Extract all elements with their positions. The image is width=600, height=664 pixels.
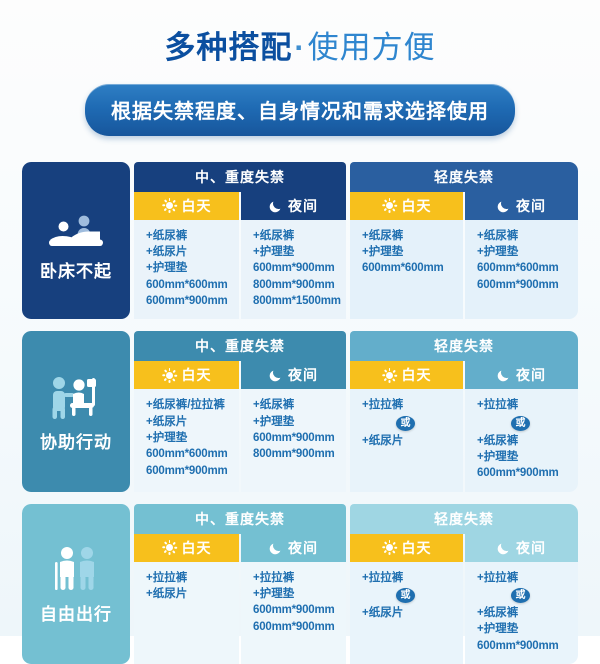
sun-icon [162, 368, 177, 383]
cell-line: +拉拉裤 [146, 570, 239, 586]
subtitle-pill-text: 根据失禁程度、自身情况和需求选择使用 [85, 84, 515, 136]
page-title-light: 使用方便 [308, 30, 436, 65]
subheader-day-label: 白天 [402, 196, 432, 216]
sun-icon [382, 540, 397, 555]
title-separator-dot: · [292, 30, 307, 65]
subheader-night[interactable]: 夜间 [465, 534, 578, 562]
page-title-strong: 多种搭配 [164, 30, 292, 65]
time-subheaders: 白天夜间 [134, 361, 346, 389]
group-mild: 轻度失禁白天夜间+纸尿裤+护理垫600mm*600mm+纸尿裤+护理垫600mm… [350, 162, 578, 320]
cell-line: +纸尿裤 [253, 228, 346, 244]
subtitle-banner: 根据失禁程度、自身情况和需求选择使用 [0, 84, 600, 136]
cell-line: +护理垫 [477, 621, 578, 637]
or-badge: 或 [511, 588, 530, 603]
group-cells: +拉拉裤+纸尿片+拉拉裤+护理垫600mm*900mm600mm*900mm [134, 562, 346, 664]
moon-icon [269, 368, 283, 382]
cell-mild-day: +纸尿裤+护理垫600mm*600mm [350, 220, 463, 320]
group-header: 轻度失禁 [350, 331, 578, 361]
category-label: 卧床不起 [40, 257, 112, 282]
group-cells: +拉拉裤或+纸尿片+拉拉裤或+纸尿裤+护理垫600mm*900mm [350, 389, 578, 491]
cell-line: 600mm*900mm [253, 260, 346, 276]
subheader-day-label: 白天 [182, 365, 212, 385]
cell-line: +护理垫 [477, 244, 578, 260]
cell-severe-day: +纸尿裤+纸尿片+护理垫600mm*600mm600mm*900mm [134, 220, 239, 320]
category-cell-2: 协助行动 [22, 331, 130, 491]
cell-line: +纸尿片 [362, 605, 463, 621]
cell-line: +纸尿裤 [253, 397, 346, 413]
time-subheaders: 白天夜间 [134, 534, 346, 562]
cell-line: 600mm*900mm [146, 463, 239, 479]
table-row: 卧床不起中、重度失禁白天夜间+纸尿裤+纸尿片+护理垫600mm*600mm600… [22, 162, 578, 320]
cell-line: 800mm*900mm [253, 277, 346, 293]
category-cell-1: 卧床不起 [22, 162, 130, 320]
or-badge: 或 [511, 416, 530, 431]
cell-line: +纸尿片 [146, 586, 239, 602]
cell-line: +纸尿裤 [477, 433, 578, 449]
sun-icon [382, 198, 397, 213]
group-header: 中、重度失禁 [134, 162, 346, 192]
cell-line: 600mm*900mm [253, 602, 346, 618]
subheader-night[interactable]: 夜间 [241, 361, 346, 389]
subheader-night[interactable]: 夜间 [241, 534, 346, 562]
time-subheaders: 白天夜间 [350, 534, 578, 562]
cell-mild-day: +拉拉裤或+纸尿片 [350, 389, 463, 491]
cell-mild-night: +拉拉裤或+纸尿裤+护理垫600mm*900mm [465, 562, 578, 664]
severity-groups: 中、重度失禁白天夜间+纸尿裤+纸尿片+护理垫600mm*600mm600mm*9… [134, 162, 578, 320]
time-subheaders: 白天夜间 [350, 361, 578, 389]
table-row: 协助行动中、重度失禁白天夜间+纸尿裤/拉拉裤+纸尿片+护理垫600mm*600m… [22, 331, 578, 491]
subheader-day-label: 白天 [182, 196, 212, 216]
category-label: 自由出行 [40, 600, 112, 625]
group-header: 轻度失禁 [350, 162, 578, 192]
subheader-night[interactable]: 夜间 [465, 192, 578, 220]
cell-line: +护理垫 [253, 244, 346, 260]
cell-line: +护理垫 [253, 414, 346, 430]
cell-line: +纸尿片 [146, 414, 239, 430]
group-mild: 轻度失禁白天夜间+拉拉裤或+纸尿片+拉拉裤或+纸尿裤+护理垫600mm*900m… [350, 331, 578, 491]
time-subheaders: 白天夜间 [134, 192, 346, 220]
comparison-table: 卧床不起中、重度失禁白天夜间+纸尿裤+纸尿片+护理垫600mm*600mm600… [0, 162, 600, 664]
group-cells: +拉拉裤或+纸尿片+拉拉裤或+纸尿裤+护理垫600mm*900mm [350, 562, 578, 664]
cell-line: 600mm*900mm [477, 465, 578, 481]
cell-line: 800mm*1500mm [253, 293, 346, 309]
cell-line: +纸尿裤 [477, 228, 578, 244]
subheader-day[interactable]: 白天 [134, 534, 239, 562]
category-cell-3: 自由出行 [22, 504, 130, 664]
or-badge: 或 [396, 588, 415, 603]
cell-line: +拉拉裤 [477, 570, 578, 586]
cell-line: +护理垫 [146, 430, 239, 446]
cell-line: +护理垫 [362, 244, 463, 260]
cell-line: +拉拉裤 [253, 570, 346, 586]
cell-line: +拉拉裤 [477, 397, 578, 413]
cell-line: +纸尿裤 [146, 228, 239, 244]
severity-groups: 中、重度失禁白天夜间+纸尿裤/拉拉裤+纸尿片+护理垫600mm*600mm600… [134, 331, 578, 491]
time-subheaders: 白天夜间 [350, 192, 578, 220]
subheader-night[interactable]: 夜间 [465, 361, 578, 389]
cell-line: 800mm*900mm [253, 446, 346, 462]
cell-line: +纸尿裤 [477, 605, 578, 621]
cell-line: 600mm*600mm [477, 260, 578, 276]
cell-line: +纸尿片 [146, 244, 239, 260]
group-cells: +纸尿裤+护理垫600mm*600mm+纸尿裤+护理垫600mm*600mm60… [350, 220, 578, 320]
cell-line: +护理垫 [477, 449, 578, 465]
cell-line: 600mm*600mm [146, 446, 239, 462]
cell-line: 600mm*900mm [146, 293, 239, 309]
moon-icon [497, 541, 511, 555]
subheader-day[interactable]: 白天 [350, 192, 463, 220]
sun-icon [162, 540, 177, 555]
group-severe: 中、重度失禁白天夜间+纸尿裤+纸尿片+护理垫600mm*600mm600mm*9… [134, 162, 346, 320]
or-badge: 或 [396, 416, 415, 431]
subheader-day[interactable]: 白天 [134, 192, 239, 220]
cell-line: +拉拉裤 [362, 397, 463, 413]
subheader-night-label: 夜间 [516, 538, 546, 558]
subheader-night[interactable]: 夜间 [241, 192, 346, 220]
subheader-day[interactable]: 白天 [134, 361, 239, 389]
group-severe: 中、重度失禁白天夜间+纸尿裤/拉拉裤+纸尿片+护理垫600mm*600mm600… [134, 331, 346, 491]
caregiver-assist-icon [48, 368, 104, 420]
group-severe: 中、重度失禁白天夜间+拉拉裤+纸尿片+拉拉裤+护理垫600mm*900mm600… [134, 504, 346, 664]
cell-line: +拉拉裤 [362, 570, 463, 586]
subheader-night-label: 夜间 [288, 196, 318, 216]
subheader-day-label: 白天 [402, 538, 432, 558]
cell-line: +护理垫 [253, 586, 346, 602]
group-header: 中、重度失禁 [134, 331, 346, 361]
cell-mild-night: +纸尿裤+护理垫600mm*600mm600mm*900mm [465, 220, 578, 320]
subheader-night-label: 夜间 [516, 196, 546, 216]
cell-line: +护理垫 [146, 260, 239, 276]
subheader-day-label: 白天 [402, 365, 432, 385]
subheader-night-label: 夜间 [288, 538, 318, 558]
moon-icon [497, 368, 511, 382]
cell-line: +纸尿裤 [362, 228, 463, 244]
cell-line: 600mm*600mm [146, 277, 239, 293]
cell-mild-day: +拉拉裤或+纸尿片 [350, 562, 463, 664]
moon-icon [497, 199, 511, 213]
subheader-day[interactable]: 白天 [350, 361, 463, 389]
subheader-night-label: 夜间 [516, 365, 546, 385]
moon-icon [269, 199, 283, 213]
cell-severe-day: +纸尿裤/拉拉裤+纸尿片+护理垫600mm*600mm600mm*900mm [134, 389, 239, 491]
cell-line: +纸尿片 [362, 433, 463, 449]
category-label: 协助行动 [40, 428, 112, 453]
table-row: 自由出行中、重度失禁白天夜间+拉拉裤+纸尿片+拉拉裤+护理垫600mm*900m… [22, 504, 578, 664]
group-header: 中、重度失禁 [134, 504, 346, 534]
group-mild: 轻度失禁白天夜间+拉拉裤或+纸尿片+拉拉裤或+纸尿裤+护理垫600mm*900m… [350, 504, 578, 664]
cell-line: 600mm*900mm [253, 619, 346, 635]
cell-line: 600mm*600mm [362, 260, 463, 276]
sun-icon [162, 198, 177, 213]
cell-severe-night: +纸尿裤+护理垫600mm*900mm800mm*900mm800mm*1500… [241, 220, 346, 320]
cell-line: 600mm*900mm [477, 277, 578, 293]
severity-groups: 中、重度失禁白天夜间+拉拉裤+纸尿片+拉拉裤+护理垫600mm*900mm600… [134, 504, 578, 664]
group-cells: +纸尿裤/拉拉裤+纸尿片+护理垫600mm*600mm600mm*900mm+纸… [134, 389, 346, 491]
page-title: 多种搭配·使用方便 [0, 0, 600, 66]
cell-line: 600mm*900mm [477, 638, 578, 654]
cell-severe-night: +纸尿裤+护理垫600mm*900mm800mm*900mm [241, 389, 346, 491]
moon-icon [269, 541, 283, 555]
product-matching-infographic: 多种搭配·使用方便 根据失禁程度、自身情况和需求选择使用 卧床不起中、重度失禁白… [0, 0, 600, 636]
person-in-bed-icon [47, 197, 105, 249]
cell-severe-day: +拉拉裤+纸尿片 [134, 562, 239, 664]
two-elderly-people-icon [51, 540, 101, 592]
group-cells: +纸尿裤+纸尿片+护理垫600mm*600mm600mm*900mm+纸尿裤+护… [134, 220, 346, 320]
cell-line: +纸尿裤/拉拉裤 [146, 397, 239, 413]
subheader-day[interactable]: 白天 [350, 534, 463, 562]
sun-icon [382, 368, 397, 383]
cell-mild-night: +拉拉裤或+纸尿裤+护理垫600mm*900mm [465, 389, 578, 491]
subheader-night-label: 夜间 [288, 365, 318, 385]
cell-severe-night: +拉拉裤+护理垫600mm*900mm600mm*900mm [241, 562, 346, 664]
group-header: 轻度失禁 [350, 504, 578, 534]
subheader-day-label: 白天 [182, 538, 212, 558]
cell-line: 600mm*900mm [253, 430, 346, 446]
